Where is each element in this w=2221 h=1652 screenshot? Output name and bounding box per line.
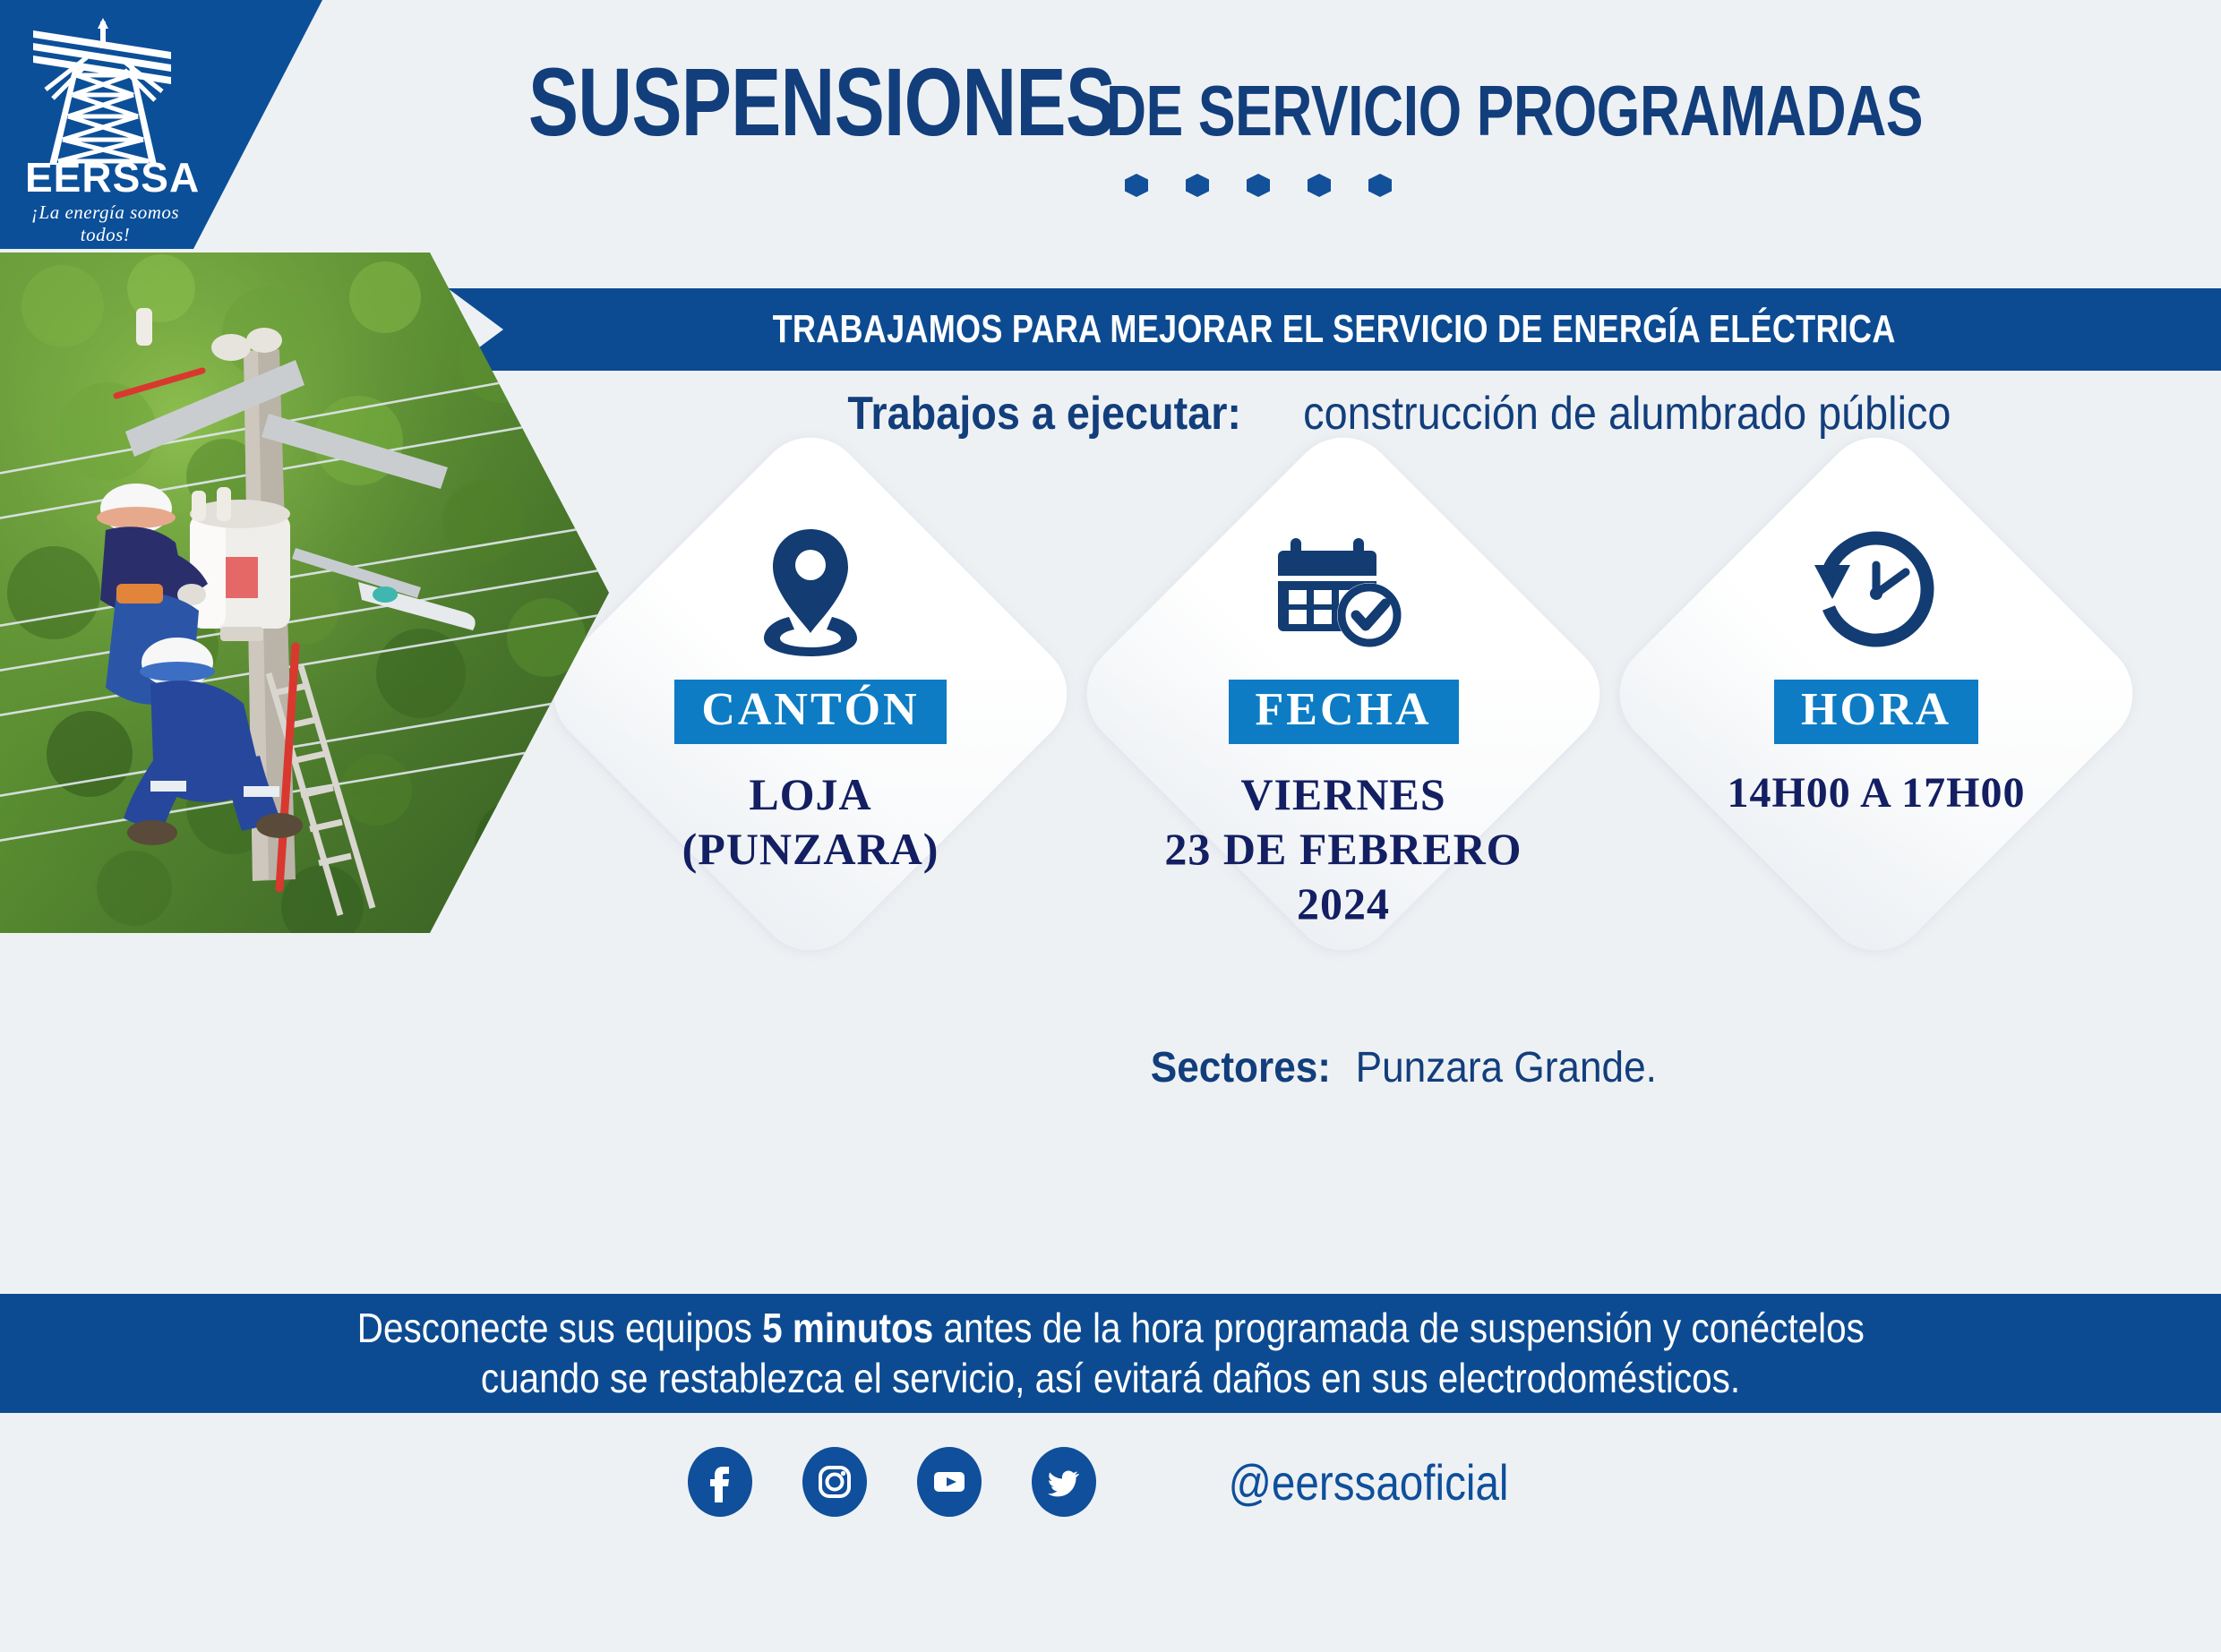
clock-rotate-icon [1809, 513, 1943, 665]
hexagon-dot-icon [1125, 174, 1148, 197]
info-card-hora: HORA 14H00 A 17H00 [1603, 497, 2149, 1043]
page-title-rest: DE SERVICIO PROGRAMADAS [1106, 75, 1923, 147]
logo-slogan: ¡La energía somos todos! [9, 201, 202, 246]
page-title: SUSPENSIONESDE SERVICIO PROGRAMADAS [322, 27, 2194, 150]
notice-line-1: Desconecte sus equipos 5 minutos antes d… [356, 1305, 1864, 1352]
social-icon-row [688, 1447, 1096, 1517]
slogan-banner: TRABAJAMOS PARA MEJORAR EL SERVICIO DE E… [448, 288, 2221, 371]
hexagon-dot-icon [1247, 174, 1270, 197]
notice-text-a: Desconecte sus equipos [356, 1305, 761, 1351]
work-description: Trabajos a ejecutar: construcción de alu… [627, 387, 2185, 441]
hexagon-dot-icon [1308, 174, 1331, 197]
page-header: SUSPENSIONESDE SERVICIO PROGRAMADAS [322, 27, 2194, 233]
card-body: FECHA VIERNES 23 DE FEBRERO 2024 [1070, 497, 1616, 1043]
hexagon-dot-icon [1186, 174, 1209, 197]
page-title-strong: SUSPENSIONES [528, 54, 1115, 150]
info-card-canton: CANTÓN LOJA (PUNZARA) [537, 497, 1084, 1043]
card-value-canton: LOJA (PUNZARA) [682, 767, 939, 877]
youtube-icon[interactable] [917, 1447, 982, 1517]
header-dot-row [322, 174, 2194, 197]
twitter-icon[interactable] [1032, 1447, 1096, 1517]
logo-wordmark: EERSSA [25, 157, 186, 198]
card-tag-fecha: FECHA [1229, 680, 1459, 744]
info-card-fecha: FECHA VIERNES 23 DE FEBRERO 2024 [1070, 497, 1616, 1043]
work-description-label: Trabajos a ejecutar: [847, 387, 1241, 441]
social-footer: @eerssaoficial [0, 1424, 2221, 1540]
notice-line-2: cuando se restablezca el servicio, así e… [481, 1356, 1740, 1402]
card-value-fecha: VIERNES 23 DE FEBRERO 2024 [1164, 767, 1522, 931]
social-handle: @eerssaoficial [1229, 1453, 1509, 1511]
card-tag-canton: CANTÓN [674, 680, 946, 744]
card-body: HORA 14H00 A 17H00 [1603, 497, 2149, 1043]
work-description-value: construcción de alumbrado público [1303, 387, 1951, 441]
info-card-group: CANTÓN LOJA (PUNZARA) [537, 497, 2194, 1052]
card-tag-hora: HORA [1774, 680, 1978, 744]
facebook-icon[interactable] [688, 1447, 752, 1517]
notice-bar: Desconecte sus equipos 5 minutos antes d… [0, 1294, 2221, 1413]
eerssa-logo-badge: EERSSA ¡La energía somos todos! [0, 0, 322, 249]
hexagon-dot-icon [1368, 174, 1392, 197]
card-body: CANTÓN LOJA (PUNZARA) [537, 497, 1084, 1043]
calendar-check-icon [1276, 513, 1411, 665]
notice-text-c: antes de la hora programada de suspensió… [933, 1305, 1865, 1351]
slogan-banner-text: TRABAJAMOS PARA MEJORAR EL SERVICIO DE E… [773, 307, 1896, 352]
card-value-hora: 14H00 A 17H00 [1727, 767, 2025, 820]
notice-text-bold: 5 minutos [762, 1305, 933, 1351]
instagram-icon[interactable] [802, 1447, 867, 1517]
map-pin-icon [757, 513, 864, 665]
